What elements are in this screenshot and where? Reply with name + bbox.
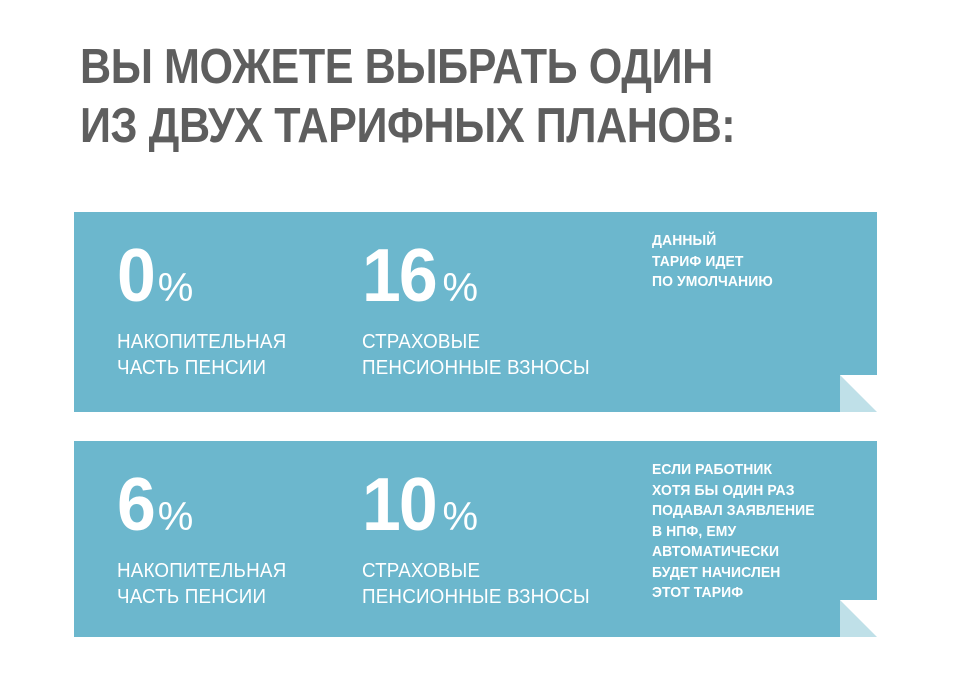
stat-label-line-1: СТРАХОВЫЕ [362,558,590,584]
stat-label: НАКОПИТЕЛЬНАЯ ЧАСТЬ ПЕНСИИ [117,329,286,381]
plan-note: ДАННЫЙ ТАРИФ ИДЕТ ПО УМОЛЧАНИЮ [652,231,852,293]
stat-label-line-2: ПЕНСИОННЫЕ ВЗНОСЫ [362,584,590,610]
page-title: ВЫ МОЖЕТЕ ВЫБРАТЬ ОДИН ИЗ ДВУХ ТАРИФНЫХ … [80,38,802,156]
page-title-line-2: ИЗ ДВУХ ТАРИФНЫХ ПЛАНОВ: [80,97,802,156]
tariff-plan-card-default: 0% НАКОПИТЕЛЬНАЯ ЧАСТЬ ПЕНСИИ 16% СТРАХО… [74,212,877,412]
plan-note-line-5: АВТОМАТИЧЕСКИ [652,542,852,563]
stat-block-insurance-contributions: 10% СТРАХОВЫЕ ПЕНСИОННЫЕ ВЗНОСЫ [362,467,604,610]
stat-block-insurance-contributions: 16% СТРАХОВЫЕ ПЕНСИОННЫЕ ВЗНОСЫ [362,238,604,381]
stat-value-group: 0% [117,238,297,313]
percent-sign: % [442,497,478,537]
plan-note: ЕСЛИ РАБОТНИК ХОТЯ БЫ ОДИН РАЗ ПОДАВАЛ З… [652,460,852,604]
stat-value-group: 6% [117,467,297,542]
stat-label-line-2: ПЕНСИОННЫЕ ВЗНОСЫ [362,355,590,381]
stat-label-line-1: СТРАХОВЫЕ [362,329,590,355]
percent-sign: % [442,268,478,308]
plan-note-line-2: ХОТЯ БЫ ОДИН РАЗ [652,481,852,502]
plan-note-line-3: ПОДАВАЛ ЗАЯВЛЕНИЕ [652,501,852,522]
tariff-plan-card-npf: 6% НАКОПИТЕЛЬНАЯ ЧАСТЬ ПЕНСИИ 10% СТРАХО… [74,441,877,637]
stat-number: 0 [117,238,154,313]
stat-label: НАКОПИТЕЛЬНАЯ ЧАСТЬ ПЕНСИИ [117,558,286,610]
folded-corner-icon [840,375,877,412]
stat-label-line-2: ЧАСТЬ ПЕНСИИ [117,584,286,610]
page-title-line-1: ВЫ МОЖЕТЕ ВЫБРАТЬ ОДИН [80,38,802,97]
stat-label: СТРАХОВЫЕ ПЕНСИОННЫЕ ВЗНОСЫ [362,558,590,610]
stat-value-group: 16% [362,238,604,313]
stat-block-accumulative-part: 6% НАКОПИТЕЛЬНАЯ ЧАСТЬ ПЕНСИИ [117,467,297,610]
stat-number: 10 [362,467,436,542]
stat-value-group: 10% [362,467,604,542]
stat-label-line-1: НАКОПИТЕЛЬНАЯ [117,558,286,584]
stat-block-accumulative-part: 0% НАКОПИТЕЛЬНАЯ ЧАСТЬ ПЕНСИИ [117,238,297,381]
plan-note-line-2: ТАРИФ ИДЕТ [652,252,852,273]
plan-note-line-1: ЕСЛИ РАБОТНИК [652,460,852,481]
stat-number: 6 [117,467,154,542]
stat-label-line-1: НАКОПИТЕЛЬНАЯ [117,329,286,355]
percent-sign: % [158,497,194,537]
stat-label: СТРАХОВЫЕ ПЕНСИОННЫЕ ВЗНОСЫ [362,329,590,381]
plan-note-line-6: БУДЕТ НАЧИСЛЕН [652,563,852,584]
stat-number: 16 [362,238,436,313]
plan-note-line-3: ПО УМОЛЧАНИЮ [652,272,852,293]
percent-sign: % [158,268,194,308]
plan-note-line-7: ЭТОТ ТАРИФ [652,583,852,604]
folded-corner-icon [840,600,877,637]
plan-note-line-1: ДАННЫЙ [652,231,852,252]
stat-label-line-2: ЧАСТЬ ПЕНСИИ [117,355,286,381]
plan-note-line-4: В НПФ, ЕМУ [652,522,852,543]
